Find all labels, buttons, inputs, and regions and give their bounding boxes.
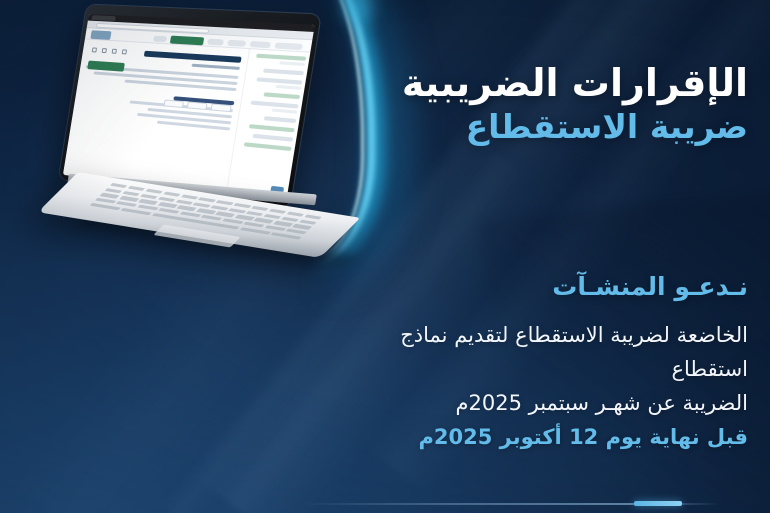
body-block: نـدعـو المنشـآت الخاضعة لضريبة الاستقطاع… [318,272,748,454]
promo-banner: الإقرارات الضريبية ضريبة الاستقطاع نـدعـ… [0,0,770,513]
headline-block: الإقرارات الضريبية ضريبة الاستقطاع [318,62,748,146]
bottom-rule-accent [634,501,682,506]
body-line-1: الخاضعة لضريبة الاستقطاع لتقديم نماذج اس… [318,318,748,386]
text-column: الإقرارات الضريبية ضريبة الاستقطاع نـدعـ… [318,0,748,513]
body-line-3-deadline: قبل نهاية يوم 12 أكتوبر 2025م [318,420,748,454]
headline-title: الإقرارات الضريبية [318,62,748,105]
body-line-2: الضريبة عن شهـر سبتمبر 2025م [318,386,748,420]
body-lines: الخاضعة لضريبة الاستقطاع لتقديم نماذج اس… [318,318,748,454]
headline-subtitle: ضريبة الاستقطاع [318,107,748,147]
body-lead: نـدعـو المنشـآت [318,272,748,302]
